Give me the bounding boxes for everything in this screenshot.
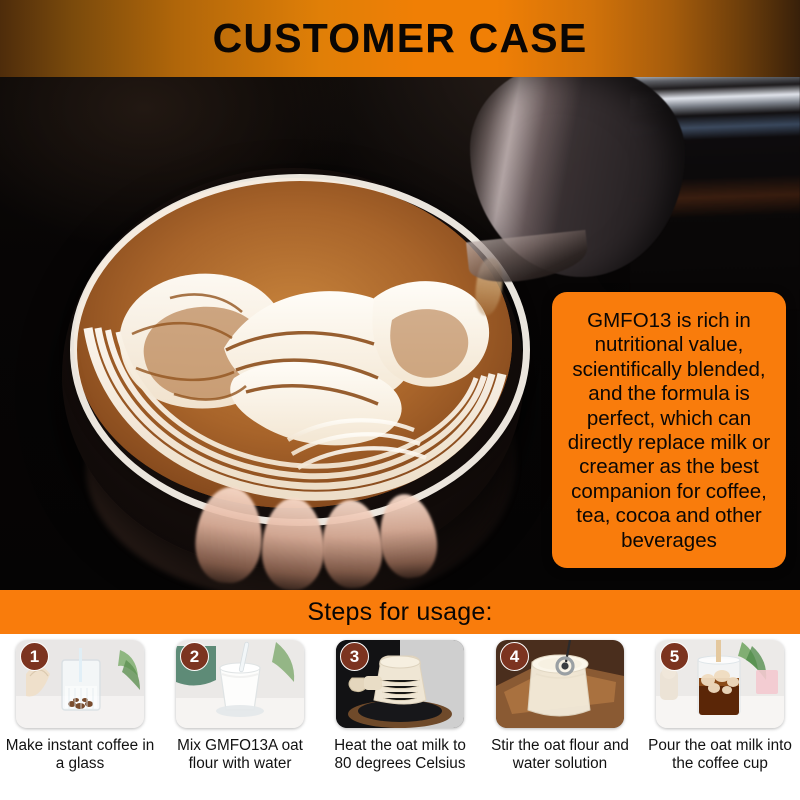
step-item-2[interactable]: 2 Mix GMFO13A oat flour with w xyxy=(160,634,320,800)
step-number-badge: 3 xyxy=(340,642,369,671)
steps-bar-title: Steps for usage: xyxy=(307,598,492,627)
steps-bar: Steps for usage: xyxy=(0,590,800,634)
step-number-badge: 5 xyxy=(660,642,689,671)
step-thumbnail-4: 4 xyxy=(496,640,624,728)
step-caption-2: Mix GMFO13A oat flour with water xyxy=(164,737,316,773)
step-thumbnail-1: 1 xyxy=(16,640,144,728)
step-item-1[interactable]: 1 xyxy=(0,634,160,800)
page-title: CUSTOMER CASE xyxy=(0,0,800,77)
step-number-badge: 4 xyxy=(500,642,529,671)
product-description-text: GMFO13 is rich in nutritional value, sci… xyxy=(560,309,778,553)
step-thumbnail-2: 2 xyxy=(176,640,304,728)
steps-list: 1 xyxy=(0,634,800,800)
step-caption-1: Make instant coffee in a glass xyxy=(4,737,156,773)
poster-canvas: CUSTOMER CASE GMFO13 is rich in nutritio… xyxy=(0,0,800,800)
step-item-4[interactable]: 4 Stir the oat fl xyxy=(480,634,640,800)
step-item-5[interactable]: 5 xyxy=(640,634,800,800)
step-thumbnail-5: 5 xyxy=(656,640,784,728)
step-caption-3: Heat the oat milk to 80 degrees Celsius xyxy=(324,737,476,773)
step-thumbnail-3: 3 xyxy=(336,640,464,728)
step-number-badge: 1 xyxy=(20,642,49,671)
latte-art-pattern xyxy=(74,178,512,508)
product-description-callout: GMFO13 is rich in nutritional value, sci… xyxy=(552,292,786,568)
step-item-3[interactable]: 3 xyxy=(320,634,480,800)
step-caption-4: Stir the oat flour and water solution xyxy=(484,737,636,773)
latte-art-surface xyxy=(74,178,512,508)
step-caption-5: Pour the oat milk into the coffee cup xyxy=(644,737,796,773)
step-number-badge: 2 xyxy=(180,642,209,671)
